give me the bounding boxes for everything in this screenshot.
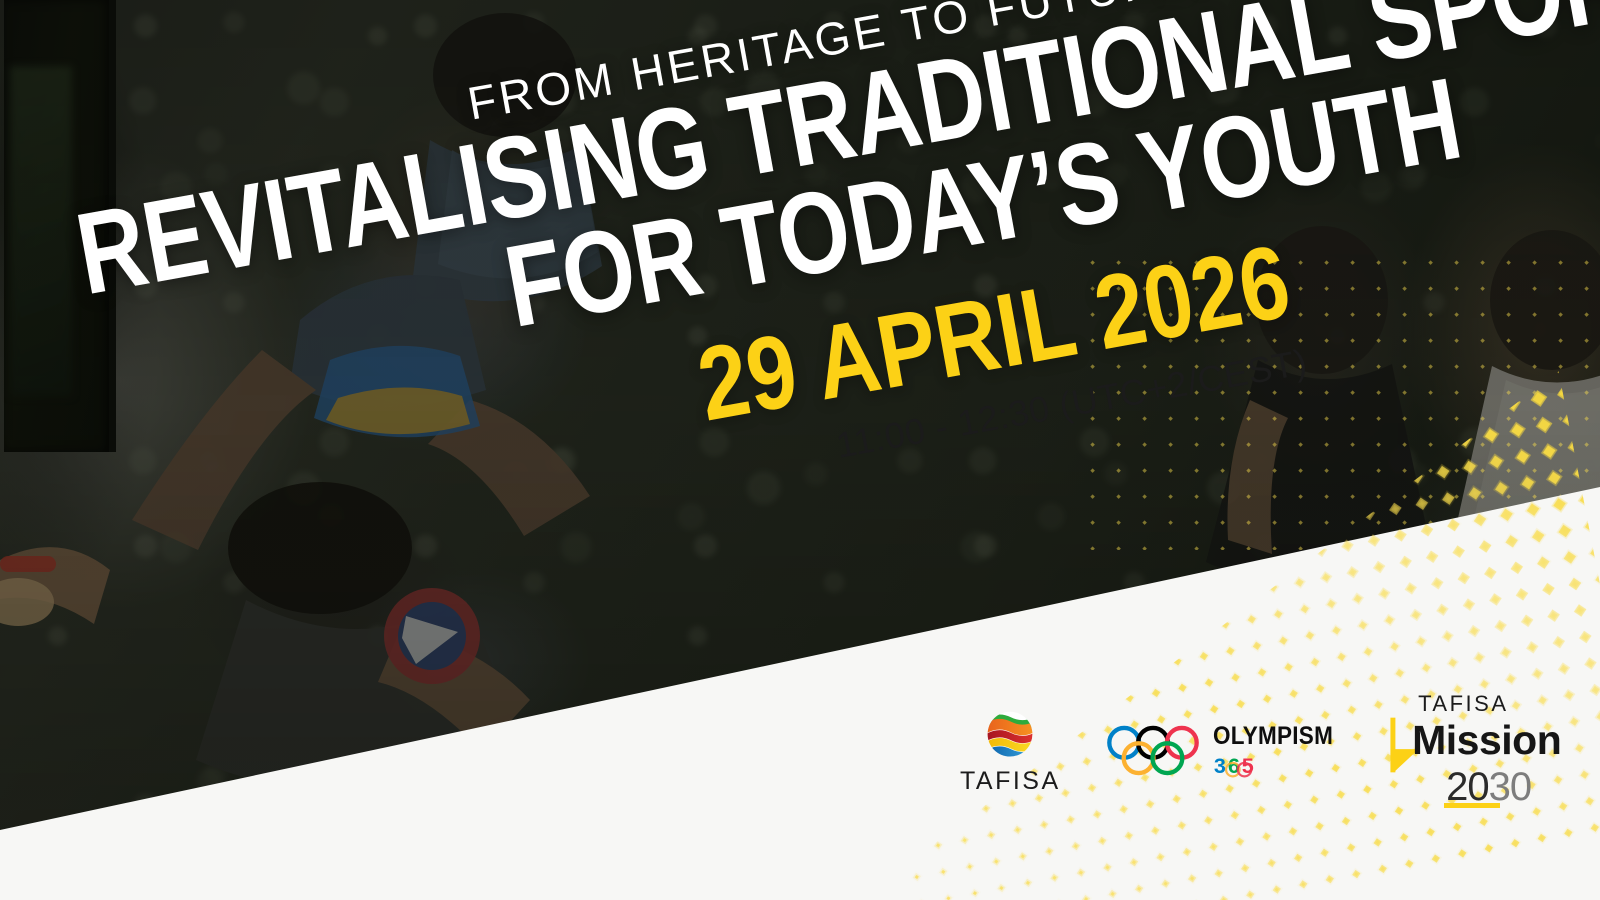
mission-year-underline — [1444, 803, 1500, 808]
tafisa-sphere-icon — [982, 705, 1038, 761]
tafisa-logo[interactable]: TAFISA — [960, 705, 1061, 796]
olympic-rings-icon — [1105, 720, 1201, 780]
mission-wordmark: Mission — [1412, 717, 1561, 764]
olympism-365-logo[interactable]: OLYMPISM 3 6 5 — [1105, 720, 1346, 780]
partner-logo-row: TAFISA OLYMPISM 3 6 5 — [960, 690, 1540, 810]
olympism-wordmark: OLYMPISM — [1213, 722, 1333, 751]
event-promo-banner: FROM HERITAGE TO FUTURE: REVITALISING TR… — [0, 0, 1600, 900]
tafisa-wordmark: TAFISA — [960, 767, 1061, 796]
svg-text:3: 3 — [1214, 753, 1226, 778]
olympism-365-number-icon: 3 6 5 — [1213, 753, 1267, 779]
mission-year-row: 20 30 — [1446, 765, 1531, 810]
mission-2030-logo[interactable]: TAFISA Mission 20 30 — [1390, 691, 1561, 810]
olympism-text-group: OLYMPISM 3 6 5 — [1213, 722, 1346, 779]
mission-main-row: Mission — [1390, 718, 1561, 764]
mission-tafisa-label: TAFISA — [1418, 691, 1508, 717]
